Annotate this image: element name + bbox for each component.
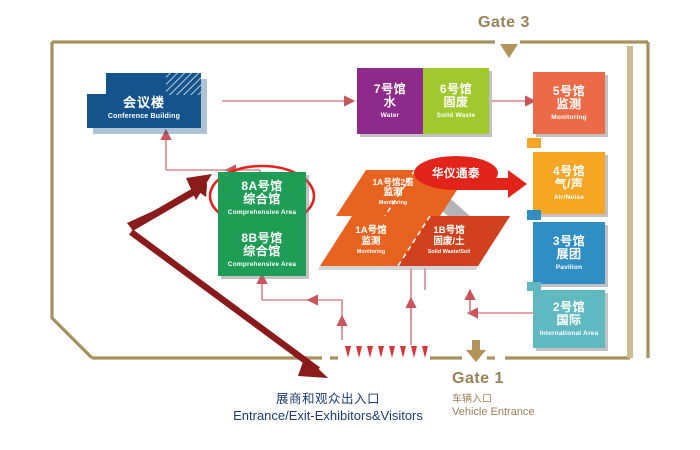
exhibitor-badge-label: 华仪通泰: [432, 165, 480, 181]
hall-1a-label[interactable]: 1A号馆 监测 Monitoring: [330, 226, 412, 255]
building-conference[interactable]: 会议楼 Conference Building: [86, 72, 222, 130]
hall-3-theme: 展团: [556, 248, 581, 261]
hall-8a[interactable]: 8A号馆 综合馆 Comprehensive Area: [218, 172, 306, 224]
conference-en: Conference Building: [86, 113, 202, 120]
gate-1-cn: 车辆入口: [452, 390, 535, 405]
hall-connector-4-3: [527, 210, 541, 220]
hall-8b[interactable]: 8B号馆 综合馆 Comprehensive Area: [218, 224, 306, 276]
hall-5-en: Monitoring: [551, 114, 587, 121]
hall-7-en: Water: [381, 112, 400, 119]
hall-3-en: Pavilion: [556, 264, 583, 271]
gate1-vehicle-arrow: [466, 340, 486, 362]
hall-8a-en: Comprehensive Area: [228, 209, 296, 216]
gate-1-en: Vehicle Entrance: [452, 406, 535, 418]
hall-1a-2f-en: Monitoring: [348, 200, 438, 206]
hall-7[interactable]: 7号馆 水 Water: [357, 68, 423, 134]
hall-1b-en: Solid Waste/Soil: [408, 249, 490, 255]
hall-3-number: 3号馆: [553, 235, 585, 248]
hall-1b-label[interactable]: 1B号馆 固废/土 Solid Waste/Soil: [408, 226, 490, 255]
hall-1a-theme: 监测: [330, 237, 412, 248]
hall-8b-en: Comprehensive Area: [228, 261, 296, 268]
gate-1-label: Gate 1 车辆入口 Vehicle Entrance: [452, 370, 535, 418]
conference-cn: 会议楼: [86, 92, 202, 111]
gate-1-name: Gate 1: [452, 370, 535, 388]
hall-2-number: 2号馆: [553, 301, 585, 314]
hall-4[interactable]: 4号馆 气/声 Air/Noise: [533, 152, 605, 214]
hall-8a-theme: 综合馆: [243, 193, 281, 206]
hall-5-theme: 监测: [556, 98, 581, 111]
hall-4-theme: 气/声: [555, 178, 584, 191]
hall-7-theme: 水: [384, 96, 397, 109]
pedestrian-entry-arrows: [345, 346, 428, 358]
gate3-marker: [500, 44, 518, 58]
visitor-entrance-cn: 展商和观众出入口: [228, 388, 428, 407]
hall-connector-5-4: [527, 138, 541, 148]
hall-8b-theme: 综合馆: [243, 245, 281, 258]
hall-6-theme: 固废: [443, 96, 468, 109]
visitor-entrance-en: Entrance/Exit-Exhibitors&Visitors: [228, 408, 428, 423]
exhibitor-badge-huayitongtai[interactable]: 华仪通泰: [414, 156, 498, 190]
hall-6[interactable]: 6号馆 固废 Solid Waste: [423, 68, 489, 134]
hall-2-en: International Area: [540, 330, 599, 337]
hall-connector-3-2: [527, 282, 541, 291]
hall-1b-theme: 固废/土: [408, 237, 490, 248]
visitor-entrance-label: 展商和观众出入口 Entrance/Exit-Exhibitors&Visito…: [228, 388, 428, 423]
gate-3-name: Gate 3: [478, 14, 530, 32]
venue-floor-plan: 会议楼 Conference Building 7号馆 水 Water 6号馆 …: [0, 0, 700, 450]
hall-2[interactable]: 2号馆 国际 International Area: [533, 290, 605, 348]
hall-3[interactable]: 3号馆 展团 Pavilion: [533, 222, 605, 284]
hall-5[interactable]: 5号馆 监测 Monitoring: [533, 72, 605, 134]
hall-6-en: Solid Waste: [437, 112, 476, 119]
hall-4-en: Air/Noise: [554, 194, 584, 201]
hall-1a-en: Monitoring: [330, 249, 412, 255]
hall-2-theme: 国际: [556, 314, 581, 327]
gate-3-label: Gate 3: [478, 14, 530, 32]
hall-1a-2f-theme: 监测: [348, 188, 438, 199]
